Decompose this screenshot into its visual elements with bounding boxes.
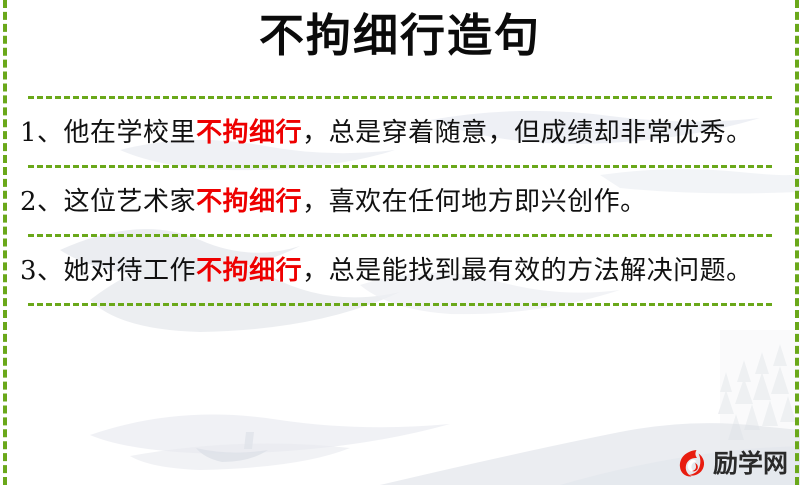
keyword-highlight: 不拘细行 bbox=[196, 118, 302, 148]
sentence-text-after: ，喜欢在任何地方即兴创作。 bbox=[302, 187, 647, 217]
divider-bottom bbox=[28, 303, 772, 306]
keyword-highlight: 不拘细行 bbox=[196, 187, 302, 217]
keyword-highlight: 不拘细行 bbox=[196, 256, 302, 286]
page-title: 不拘细行造句 bbox=[0, 6, 800, 67]
sentence-index: 3、 bbox=[20, 256, 64, 286]
sentence-worksheet-page: 不拘细行造句 1、他在学校里不拘细行，总是穿着随意，但成绩却非常优秀。 2、这位… bbox=[0, 0, 800, 485]
sentence-text-before: 她对待工作 bbox=[64, 256, 197, 286]
brand-logo[interactable]: 励学网 bbox=[676, 447, 788, 479]
sentence-text-before: 他在学校里 bbox=[64, 118, 197, 148]
sentence-index: 2、 bbox=[20, 187, 64, 217]
sentence-text-before: 这位艺术家 bbox=[64, 187, 197, 217]
list-item: 3、她对待工作不拘细行，总是能找到最有效的方法解决问题。 bbox=[0, 237, 800, 303]
sentence-text-after: ，总是能找到最有效的方法解决问题。 bbox=[302, 256, 753, 286]
sentence-index: 1、 bbox=[20, 118, 64, 148]
red-swirl-flame-icon bbox=[676, 447, 708, 479]
brand-name-text: 励学网 bbox=[713, 451, 788, 476]
sentence-list: 1、他在学校里不拘细行，总是穿着随意，但成绩却非常优秀。 2、这位艺术家不拘细行… bbox=[0, 96, 800, 306]
page-title-text: 不拘细行造句 bbox=[259, 6, 541, 67]
list-item: 1、他在学校里不拘细行，总是穿着随意，但成绩却非常优秀。 bbox=[0, 99, 800, 165]
sentence-text-after: ，总是穿着随意，但成绩却非常优秀。 bbox=[302, 118, 753, 148]
list-item: 2、这位艺术家不拘细行，喜欢在任何地方即兴创作。 bbox=[0, 168, 800, 234]
